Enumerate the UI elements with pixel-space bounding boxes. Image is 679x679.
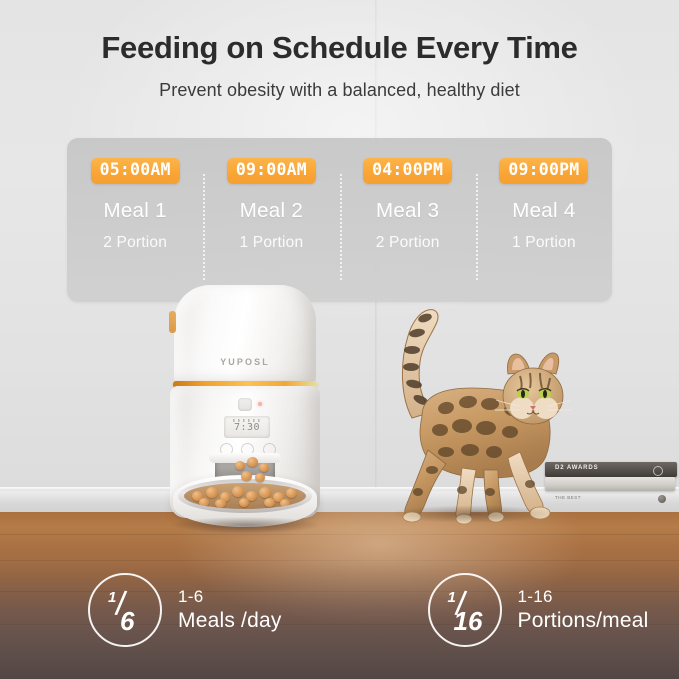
meal-name: Meal 4 xyxy=(512,199,575,223)
meal-portion: 1 Portion xyxy=(239,234,303,252)
schedule-column-1: 05:00AM Meal 1 2 Portion xyxy=(67,138,203,302)
meal-time-badge: 09:00AM xyxy=(227,158,316,184)
feature-badges: 1 / 6 1-6 Meals /day 1 / 16 1-16 Portio xyxy=(0,560,679,660)
feeder-chute-lip xyxy=(209,453,281,463)
bowl-kibble-fill xyxy=(184,483,306,509)
brand-logo: YUPOSL xyxy=(165,357,325,367)
feature-portions-per-meal: 1 / 16 1-16 Portions/meal xyxy=(340,560,679,660)
automatic-pet-feeder: YUPOSL 7:30 xyxy=(165,285,325,538)
feature-range: 1-6 xyxy=(178,587,282,608)
fraction-denominator: 6 xyxy=(120,606,134,637)
page-subtitle: Prevent obesity with a balanced, healthy… xyxy=(0,80,679,101)
lcd-time-value: 7:30 xyxy=(224,422,270,433)
feeder-hopper xyxy=(174,285,316,385)
meal-name: Meal 3 xyxy=(376,199,439,223)
schedule-column-4: 09:00PM Meal 4 1 Portion xyxy=(476,138,612,302)
feature-label: Portions/meal xyxy=(518,608,649,634)
feature-text: 1-16 Portions/meal xyxy=(518,587,649,633)
fraction-graphic: 1 / 16 xyxy=(430,575,500,645)
cat-shadow xyxy=(390,505,555,523)
meal-name: Meal 2 xyxy=(240,199,303,223)
fraction-numerator: 1 xyxy=(448,589,456,606)
fraction-denominator: 16 xyxy=(454,606,483,637)
feeding-schedule-card: 05:00AM Meal 1 2 Portion 09:00AM Meal 2 … xyxy=(67,138,612,302)
meal-time-badge: 09:00PM xyxy=(499,158,588,184)
meal-time-badge: 05:00AM xyxy=(91,158,180,184)
fraction-circle-icon: 1 / 16 xyxy=(428,573,502,647)
lcd-display: 7:30 xyxy=(224,416,270,438)
fraction-graphic: 1 / 6 xyxy=(90,575,160,645)
cat-illustration xyxy=(370,300,575,532)
schedule-column-3: 04:00PM Meal 3 2 Portion xyxy=(340,138,476,302)
meal-time-badge: 04:00PM xyxy=(363,158,452,184)
meal-portion: 2 Portion xyxy=(103,234,167,252)
feature-label: Meals /day xyxy=(178,608,282,634)
status-indicator-led xyxy=(258,402,262,406)
book-hole-icon xyxy=(658,495,666,503)
feeder-side-latch xyxy=(169,311,176,333)
schedule-column-2: 09:00AM Meal 2 1 Portion xyxy=(203,138,339,302)
feeder-shadow xyxy=(171,517,321,533)
feature-meals-per-day: 1 / 6 1-6 Meals /day xyxy=(0,560,340,660)
book-emblem-icon xyxy=(653,466,663,476)
power-icon xyxy=(238,398,252,411)
product-marketing-image: Feeding on Schedule Every Time Prevent o… xyxy=(0,0,679,679)
meal-portion: 1 Portion xyxy=(512,234,576,252)
page-title: Feeding on Schedule Every Time xyxy=(0,30,679,66)
fraction-circle-icon: 1 / 6 xyxy=(88,573,162,647)
feature-text: 1-6 Meals /day xyxy=(178,587,282,633)
feature-range: 1-16 xyxy=(518,587,649,608)
bengal-cat xyxy=(370,300,575,532)
meal-portion: 2 Portion xyxy=(376,234,440,252)
meal-name: Meal 1 xyxy=(103,199,166,223)
